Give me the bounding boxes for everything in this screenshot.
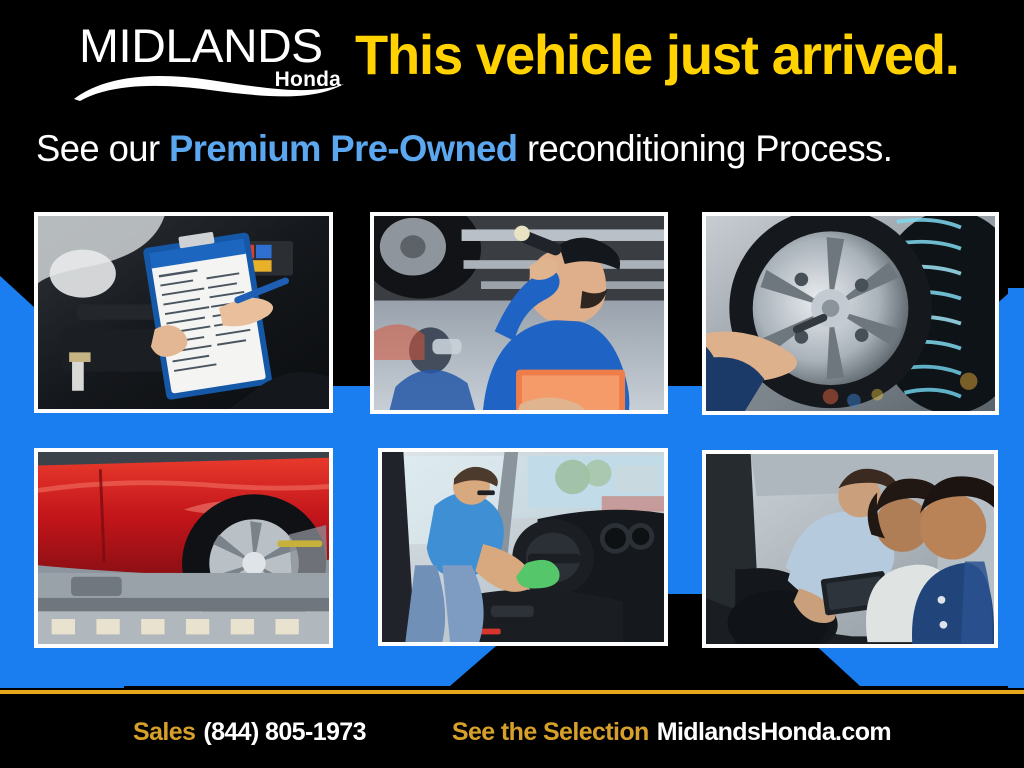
- gallery-photo-inspection-checklist[interactable]: [34, 212, 333, 413]
- sales-phone[interactable]: (844) 805-1973: [203, 718, 366, 747]
- header: MIDLANDS Honda This vehicle just arrived…: [0, 0, 1024, 196]
- subtitle-prefix: See our: [36, 128, 169, 169]
- see-selection-label: See the Selection: [452, 718, 649, 747]
- gallery-photo-customer-delivery[interactable]: [702, 450, 998, 648]
- gallery-photo-interior-detailing[interactable]: [378, 448, 668, 646]
- subtitle-highlight: Premium Pre-Owned: [169, 128, 517, 169]
- website-link[interactable]: MidlandsHonda.com: [657, 718, 891, 747]
- subtitle: See our Premium Pre-Owned reconditioning…: [36, 126, 892, 172]
- promo-banner: MIDLANDS Honda This vehicle just arrived…: [0, 0, 1024, 768]
- gallery-photo-undercarriage-inspection[interactable]: [370, 212, 668, 414]
- gallery-photo-wheel-tire-service[interactable]: [702, 212, 999, 415]
- logo-wordmark: MIDLANDS: [79, 22, 323, 69]
- sales-label: Sales: [133, 718, 195, 747]
- page-title: This vehicle just arrived.: [355, 25, 959, 85]
- subtitle-suffix: reconditioning Process.: [517, 128, 892, 169]
- swoosh-icon: [72, 68, 347, 102]
- gallery-photo-alignment-rack[interactable]: [34, 448, 333, 648]
- dealer-logo[interactable]: MIDLANDS Honda: [72, 22, 347, 98]
- footer: Sales (844) 805-1973 See the Selection M…: [0, 694, 1024, 768]
